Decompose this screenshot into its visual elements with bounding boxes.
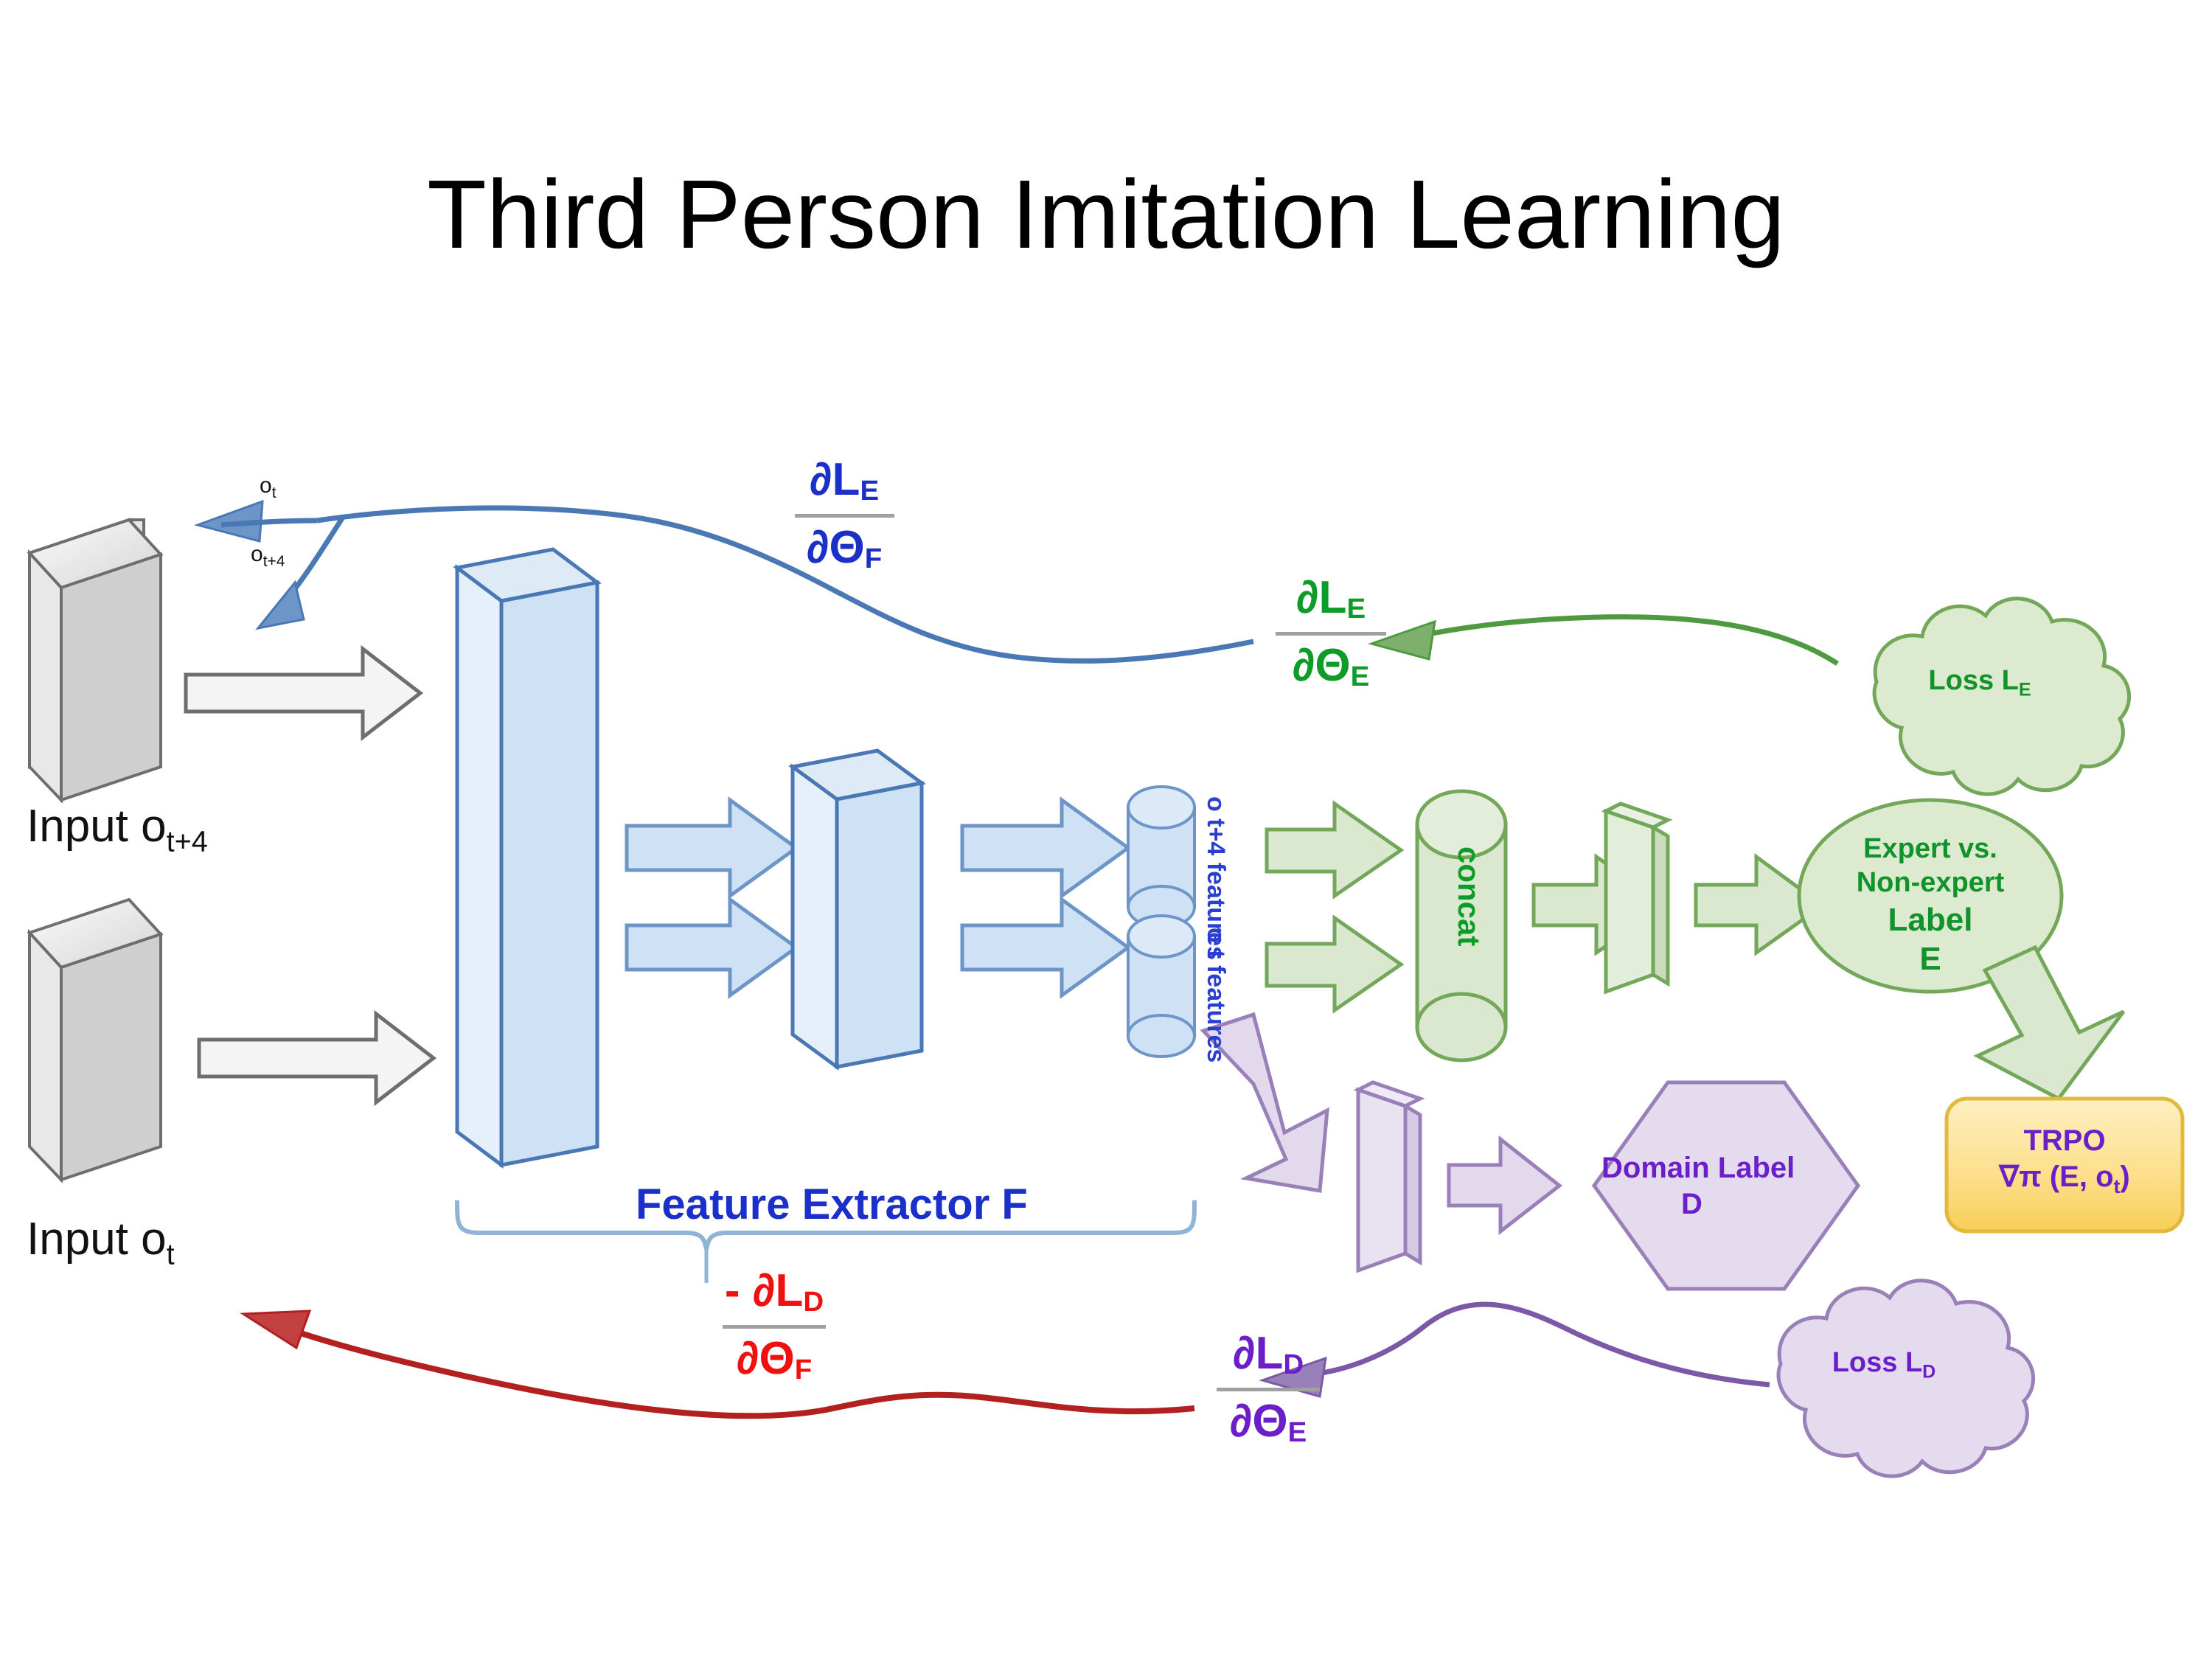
trpo-line-1: TRPO xyxy=(1947,1123,2183,1159)
discriminator-plane-e xyxy=(1606,804,1668,992)
trpo-line-2: ∇π (E, ot) xyxy=(1947,1159,2183,1198)
feature-label-bottom: o t features xyxy=(1201,928,1230,1062)
concat-arrow-top xyxy=(1267,804,1401,896)
expert-line-1: Expert vs. xyxy=(1805,832,2056,866)
input-box-top xyxy=(29,520,161,800)
trpo-label: TRPO ∇π (E, ot) xyxy=(1947,1123,2183,1198)
feature-cylinder-top xyxy=(1128,787,1194,928)
gradient-ld-thetae: ∂LD ∂ΘE xyxy=(1183,1331,1353,1447)
observation-label-ot4: ot+4 xyxy=(251,542,285,571)
feature-arrow-top xyxy=(627,800,796,896)
feature-extractor-label: Feature Extractor F xyxy=(636,1180,1028,1229)
feature-arrow-bottom xyxy=(627,900,796,995)
concat-label: concat xyxy=(1451,846,1486,946)
expert-line-4: E xyxy=(1805,939,2056,979)
domain-arrow xyxy=(1449,1139,1559,1231)
expert-line-3: Label xyxy=(1805,900,2056,940)
gradient-ld-thetaf: - ∂LD ∂ΘF xyxy=(686,1268,863,1385)
expert-label-text: Expert vs. Non-expert Label E xyxy=(1805,832,2056,979)
input-label-top: Input ot+4 xyxy=(27,804,208,857)
slide-canvas: Third Person Imitation Learning xyxy=(0,0,2212,1659)
domain-label-text: Domain Label D xyxy=(1601,1150,1970,1222)
domain-line-2: D xyxy=(1681,1186,1970,1222)
diagram-svg xyxy=(0,0,2212,1659)
feature-arrow-bottom-2 xyxy=(962,900,1128,995)
domain-line-1: Domain Label xyxy=(1601,1150,1970,1186)
backprop-curve-blue xyxy=(198,501,1253,661)
concat-arrow-bottom xyxy=(1267,918,1401,1010)
loss-e-label: Loss LE xyxy=(1873,664,2087,701)
input-box-bottom xyxy=(29,900,161,1180)
discriminator-plane-d xyxy=(1358,1082,1420,1270)
feature-arrow-top-2 xyxy=(962,800,1128,896)
input-arrow-top xyxy=(186,649,420,737)
input-label-bottom: Input ot xyxy=(27,1217,175,1270)
gradient-le-thetaf: ∂LE ∂ΘF xyxy=(759,457,929,574)
feature-extractor-block-2 xyxy=(793,751,922,1067)
expert-line-2: Non-expert xyxy=(1805,866,2056,900)
gradient-le-thetae: ∂LE ∂ΘE xyxy=(1246,575,1416,692)
backprop-curve-green xyxy=(1371,617,1837,664)
input-arrow-bottom xyxy=(199,1014,434,1102)
observation-label-ot: ot xyxy=(260,473,276,502)
feature-cylinder-bottom xyxy=(1128,916,1194,1057)
loss-d-label: Loss LD xyxy=(1777,1346,1991,1383)
feature-extractor-block-1 xyxy=(457,549,597,1165)
